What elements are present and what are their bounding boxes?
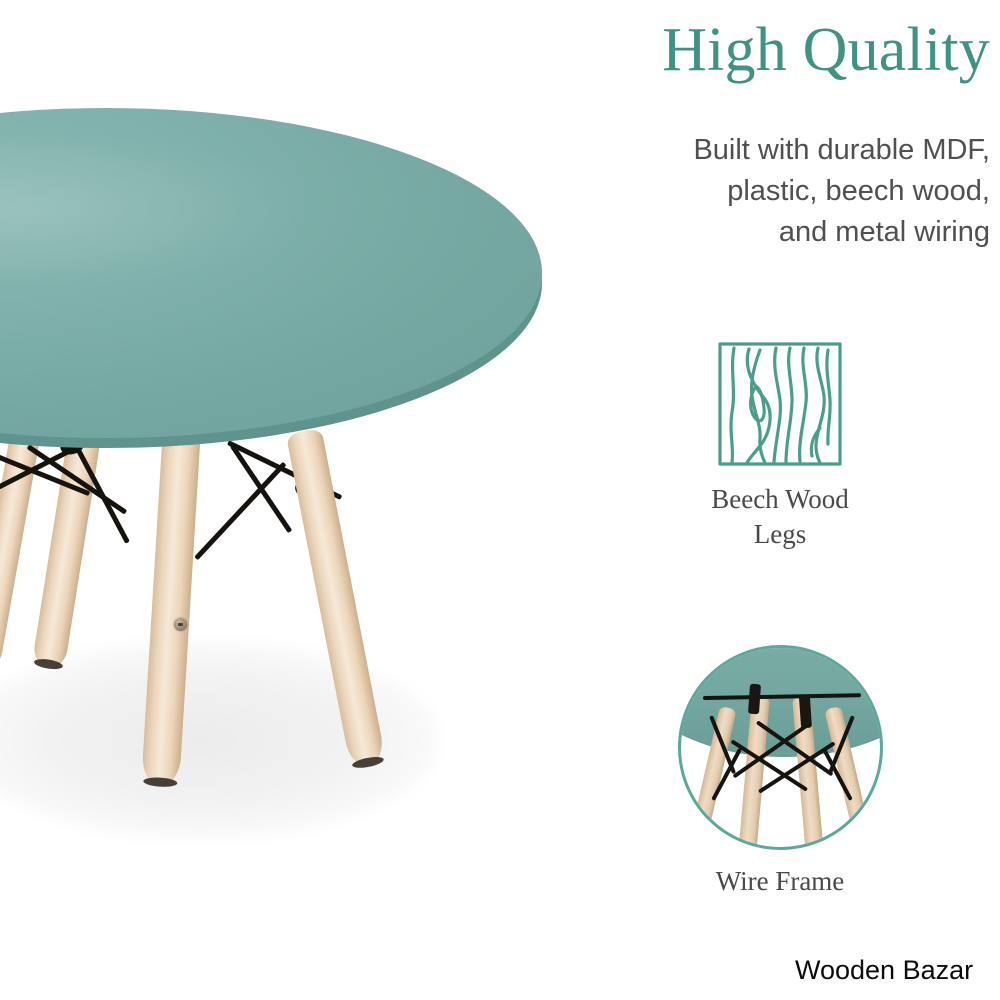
product-feature-image: High Quality Built with durable MDF, pla… — [0, 0, 1000, 1000]
photo-wire-collar-1 — [747, 684, 760, 715]
product-photo — [0, 0, 580, 1000]
feature-caption-line-2: Legs — [560, 517, 1000, 552]
feature-beech-wood-legs: Beech Wood Legs — [560, 340, 1000, 551]
description-line-2: plastic, beech wood, — [570, 171, 990, 212]
info-panel: High Quality Built with durable MDF, pla… — [560, 0, 1000, 1000]
watermark: Wooden Bazar — [795, 955, 973, 986]
leg-screw — [174, 618, 187, 631]
wire-frame-photo — [678, 645, 883, 850]
feature-caption: Beech Wood Legs — [560, 482, 1000, 551]
page-title: High Quality — [560, 18, 990, 83]
description-line-3: and metal wiring — [570, 212, 990, 253]
wood-grain-icon — [560, 340, 1000, 468]
feature-caption: Wire Frame — [560, 864, 1000, 899]
description-text: Built with durable MDF, plastic, beech w… — [570, 130, 990, 254]
feature-caption-line-1: Beech Wood — [560, 482, 1000, 517]
feature-wire-frame: Wire Frame — [560, 645, 1000, 899]
description-line-1: Built with durable MDF, — [570, 130, 990, 171]
feature-caption-line-1: Wire Frame — [560, 864, 1000, 899]
